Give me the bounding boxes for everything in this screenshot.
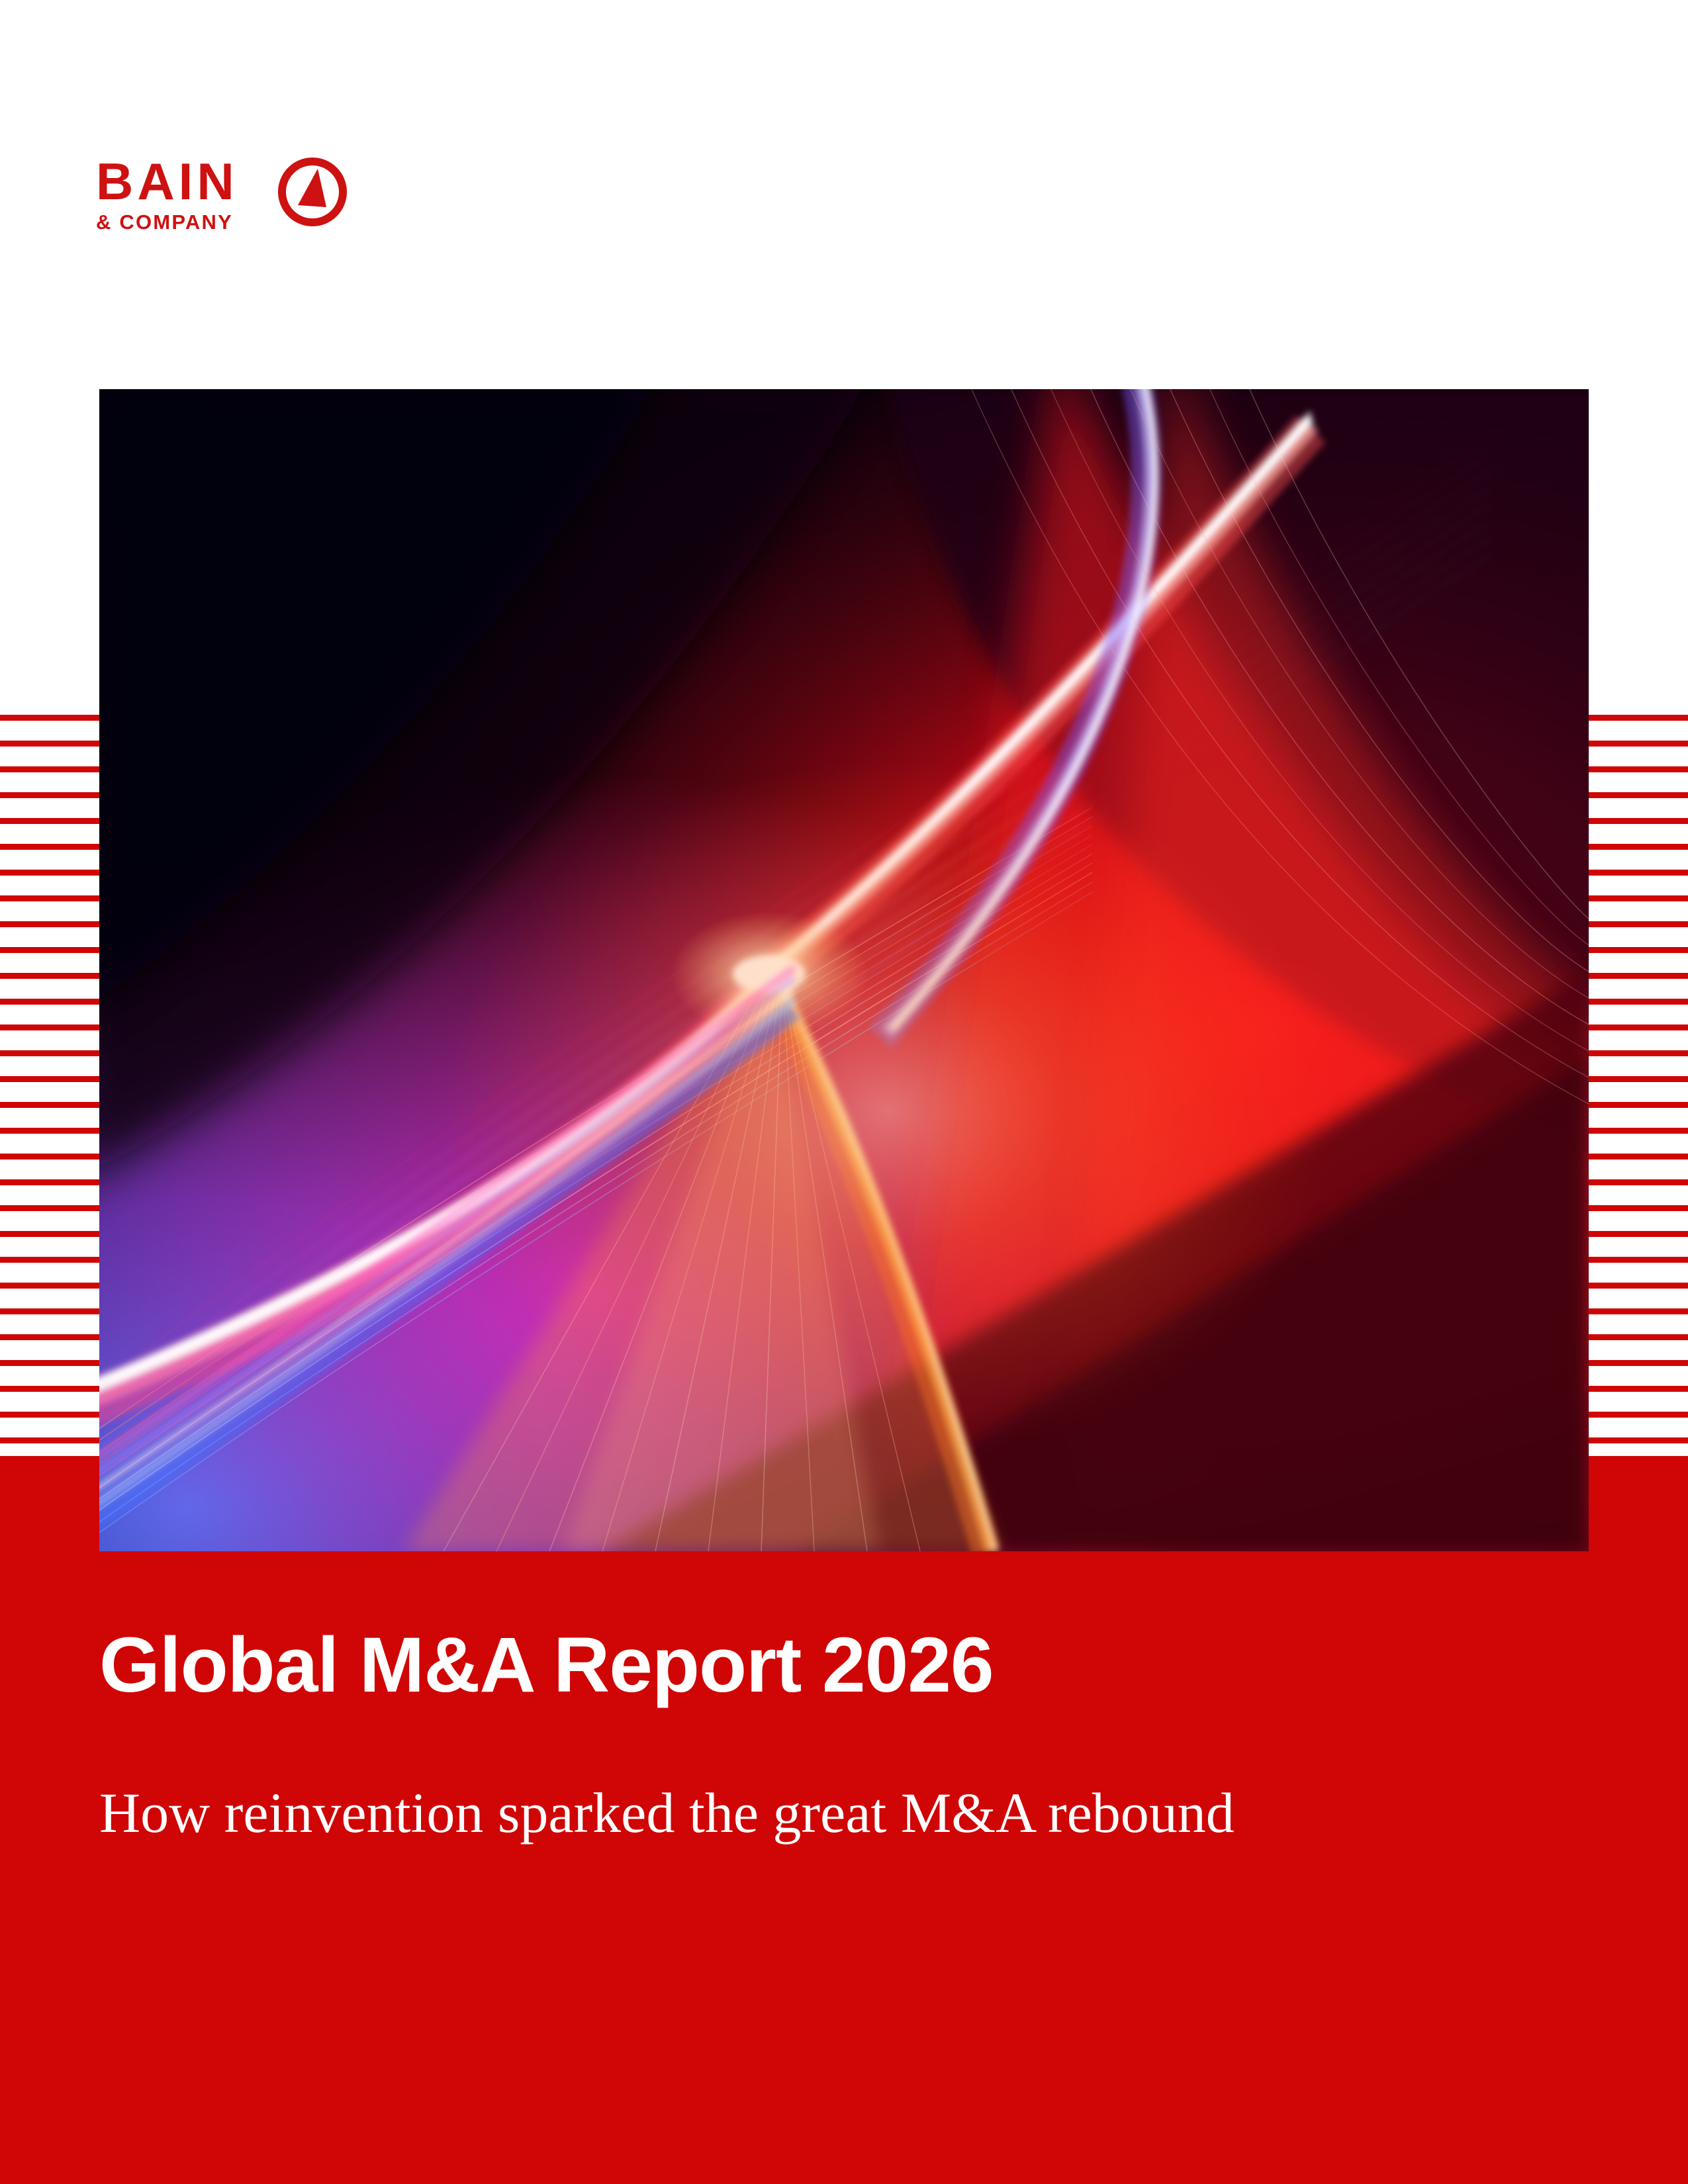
stripe-band-right xyxy=(1587,715,1688,1456)
cover-hero-image xyxy=(99,389,1589,1551)
hero-image-svg xyxy=(99,389,1589,1551)
bain-company-logo: BAIN & COMPANY xyxy=(96,151,374,244)
bain-circle-triangle-icon xyxy=(282,161,343,222)
logo-wordmark-bain: BAIN xyxy=(96,152,238,210)
report-title: Global M&A Report 2026 xyxy=(99,1625,1556,1707)
stripe-band-left xyxy=(0,715,101,1456)
logo-wordmark-company: & COMPANY xyxy=(96,210,233,234)
bain-logo-svg: BAIN & COMPANY xyxy=(96,151,374,244)
report-subtitle: How reinvention sparked the great M&A re… xyxy=(99,1780,1589,1846)
cover-page: BAIN & COMPANY xyxy=(0,0,1688,2184)
